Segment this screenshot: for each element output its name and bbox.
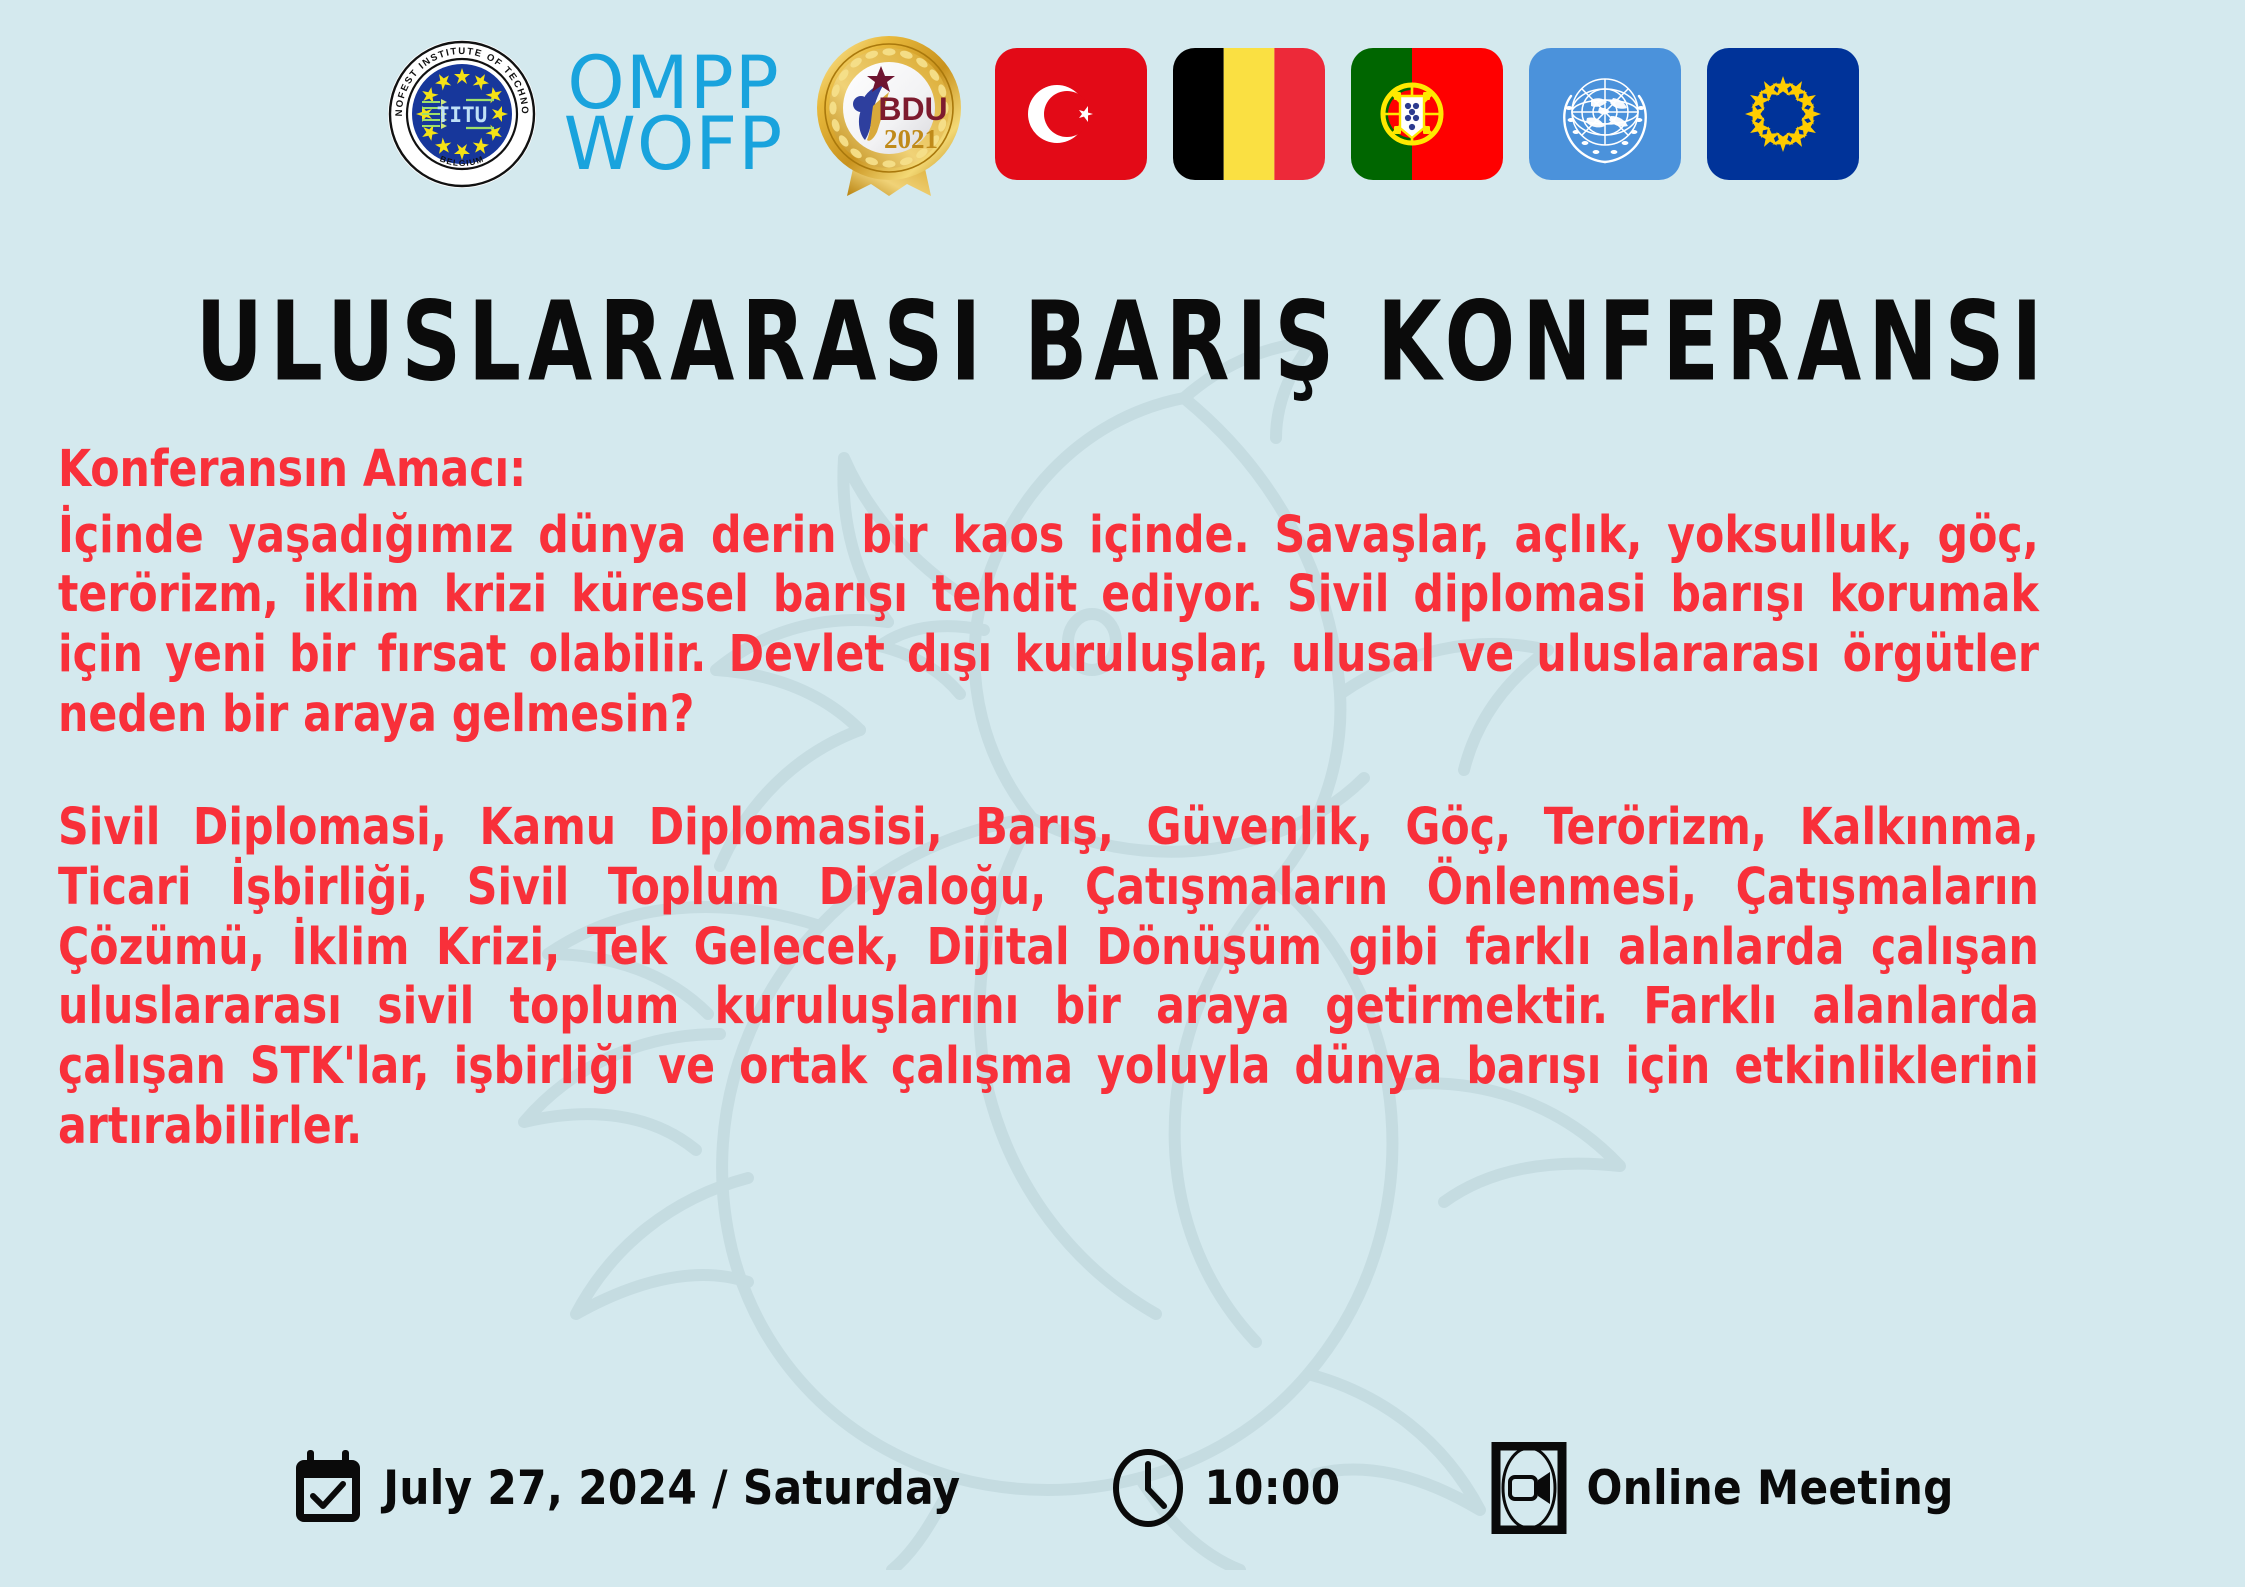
flag-european-union xyxy=(1707,48,1859,180)
topics-paragraph: Sivil Diplomasi, Kamu Diplomasisi, Barış… xyxy=(58,798,2039,1156)
page-title: ULUSLARARASI BARIŞ KONFERANSI xyxy=(0,278,2245,406)
bdu-label: BDU xyxy=(879,91,948,127)
flag-portugal xyxy=(1351,48,1503,180)
ompp-wofp-logo: OMPP WOFP xyxy=(564,53,784,176)
purpose-heading: Konferansın Amacı: xyxy=(58,440,2039,500)
titu-seal-logo: TITU TECHNOFEST INSTITUTE OF TECHNOLOGY … xyxy=(386,38,538,190)
flag-united-nations xyxy=(1529,48,1681,180)
flag-belgium xyxy=(1173,48,1325,180)
bdu-2021-medal: BDU 2021 xyxy=(809,30,969,198)
logo-row: TITU TECHNOFEST INSTITUTE OF TECHNOLOGY … xyxy=(0,34,2245,194)
titu-center-label: TITU xyxy=(436,103,487,127)
clock-icon xyxy=(1110,1448,1186,1528)
event-time: 10:00 xyxy=(1110,1448,1340,1528)
video-camera-icon xyxy=(1490,1442,1568,1534)
flag-turkey xyxy=(995,48,1147,180)
bdu-year: 2021 xyxy=(884,124,938,154)
ompp-line-2: WOFP xyxy=(564,114,784,175)
event-meeting-label: Online Meeting xyxy=(1586,1461,1953,1516)
event-meeting-type: Online Meeting xyxy=(1490,1442,1953,1534)
event-date-label: July 27, 2024 / Saturday xyxy=(383,1461,960,1516)
conference-poster: TITU TECHNOFEST INSTITUTE OF TECHNOLOGY … xyxy=(0,0,2245,1587)
event-time-label: 10:00 xyxy=(1204,1461,1340,1516)
body-copy: Konferansın Amacı: İçinde yaşadığımız dü… xyxy=(58,440,2039,1156)
calendar-check-icon xyxy=(291,1448,365,1528)
purpose-paragraph: İçinde yaşadığımız dünya derin bir kaos … xyxy=(58,506,2039,745)
event-details-bar: July 27, 2024 / Saturday 10:00 Online Me… xyxy=(0,1433,2245,1543)
event-date: July 27, 2024 / Saturday xyxy=(291,1448,960,1528)
